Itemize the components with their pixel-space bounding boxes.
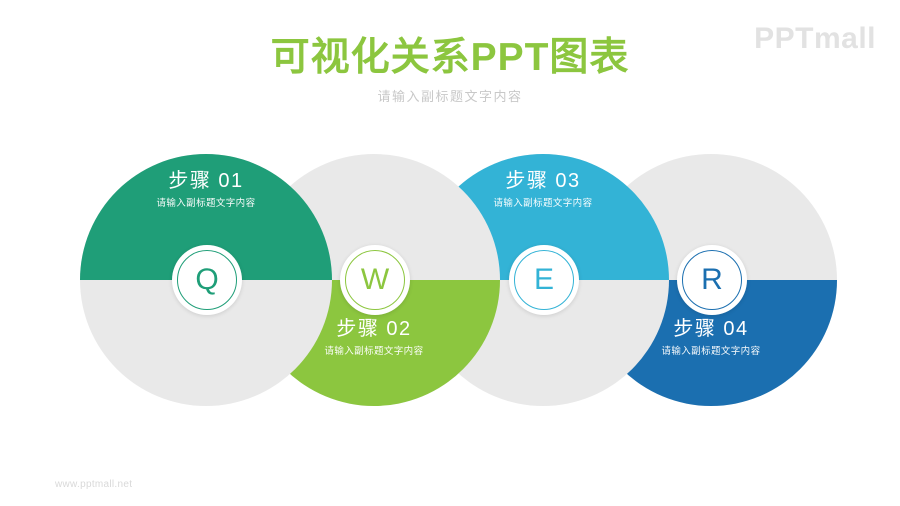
slide-canvas: PPTmall 可视化关系PPT图表 请输入副标题文字内容 步骤 01 请输入副… xyxy=(0,0,900,506)
step-badge-r-ring: R xyxy=(682,250,742,310)
step-badge-w[interactable]: W xyxy=(340,245,410,315)
step-badge-q-ring: Q xyxy=(177,250,237,310)
step-badge-w-ring: W xyxy=(345,250,405,310)
step-badge-q-letter: Q xyxy=(195,265,218,295)
step-badge-q[interactable]: Q xyxy=(172,245,242,315)
step-badge-e[interactable]: E xyxy=(509,245,579,315)
step-badge-r-letter: R xyxy=(701,265,723,295)
footer-url: www.pptmall.net xyxy=(55,479,132,490)
step-badge-r[interactable]: R xyxy=(677,245,747,315)
step-badge-e-ring: E xyxy=(514,250,574,310)
step-badge-e-letter: E xyxy=(534,265,554,295)
step-badge-w-letter: W xyxy=(361,265,389,295)
process-diagram: 步骤 01 请输入副标题文字内容 步骤 02 请输入副标题文字内容 步骤 03 … xyxy=(0,0,900,506)
